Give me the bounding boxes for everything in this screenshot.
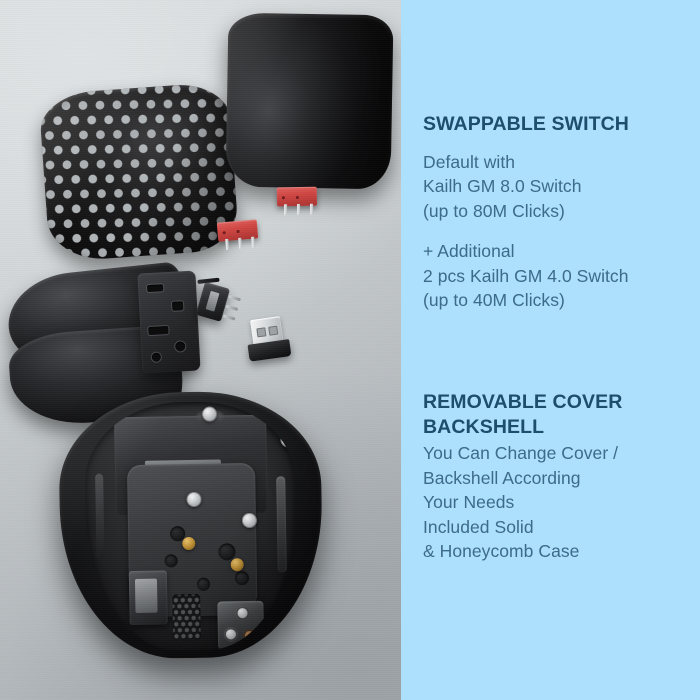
text-line: Your Needs [423,490,692,515]
text-line: 2 pcs Kailh GM 4.0 Switch [423,264,692,289]
frame-hole [197,578,210,591]
product-infographic: SWAPPABLE SWITCH Default with Kailh GM 8… [0,0,700,700]
brand-logo [188,407,232,426]
swappable-switch-section: SWAPPABLE SWITCH Default with Kailh GM 8… [423,112,692,313]
mouse-chassis-part [58,390,325,661]
pcb-board [114,415,268,516]
encoder-lead [226,305,238,311]
frame-hole [235,571,249,585]
sensor-lens [243,629,256,642]
encoder-lead [229,295,241,301]
plate-cutout [175,341,186,352]
text-line: + Additional [423,239,692,264]
text-line: & Honeycomb Case [423,539,692,564]
text-line: Kailh GM 8.0 Switch [423,174,692,199]
switch-pin [284,204,287,215]
screw [242,513,257,528]
plate-surface [137,271,200,374]
text-line: You Can Change Cover / [423,441,692,466]
chassis-outer-shell [58,390,325,661]
plate-cutout [147,284,163,292]
info-panel: SWAPPABLE SWITCH Default with Kailh GM 8… [401,0,700,700]
switch-pin [297,204,300,215]
mounting-plate-part [137,271,200,374]
sensor-lens [224,627,238,641]
heading-line: REMOVABLE COVER [423,390,692,415]
solid-cover-shell [225,13,393,190]
battery-compartment [129,570,168,625]
usb-dongle-part [242,315,294,365]
optical-sensor-module [217,601,264,650]
frame-hole [170,526,185,541]
red-microswitch-part [277,187,318,218]
side-rail [276,476,287,572]
removable-cover-paragraph-1: You Can Change Cover / Backshell Accordi… [423,441,692,564]
switch-pin [310,204,313,215]
swappable-switch-heading: SWAPPABLE SWITCH [423,112,692,137]
internal-frame [127,463,258,617]
screw [202,407,217,422]
product-photo-panel [0,0,401,700]
red-microswitch-part [217,219,259,252]
honeycomb-cover-part [38,82,239,263]
text-line: (up to 80M Clicks) [423,199,692,224]
encoder-lead [223,314,235,320]
screw [280,432,295,447]
scroll-encoder-part [191,275,244,329]
plate-cutout [172,301,183,311]
swappable-switch-paragraph-1: Default with Kailh GM 8.0 Switch (up to … [423,150,692,224]
brass-contact [182,537,195,550]
frame-hole [165,554,178,567]
removable-cover-heading: REMOVABLE COVER BACKSHELL [423,390,692,439]
text-line: Included Solid [423,515,692,540]
heading-line: BACKSHELL [423,415,692,440]
text-line: Backshell According [423,466,692,491]
sensor-lens [235,606,249,620]
swappable-switch-paragraph-2: + Additional 2 pcs Kailh GM 4.0 Switch (… [423,239,692,313]
plate-cutout [148,326,168,335]
frame-hole [218,543,235,560]
chassis-cavity [84,400,298,652]
solid-cover-part [225,13,393,190]
side-rail [95,474,104,560]
text-line: Default with [423,150,692,175]
text-line: (up to 40M Clicks) [423,288,692,313]
honeycomb-shell [38,82,239,263]
plate-cutout [152,352,161,361]
grip-mesh [172,594,201,640]
removable-cover-section: REMOVABLE COVER BACKSHELL You Can Change… [423,390,692,564]
brass-contact [231,558,244,571]
screw [186,492,201,507]
